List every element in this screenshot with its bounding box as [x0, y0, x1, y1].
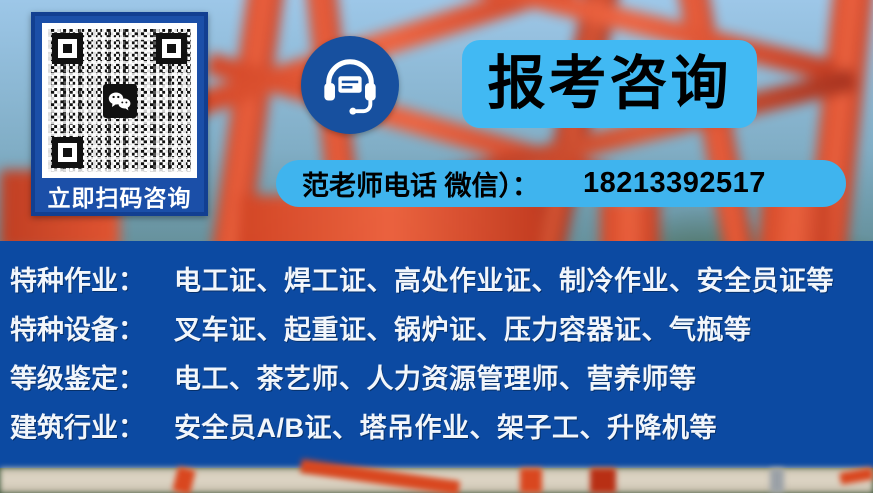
contact-pill[interactable]: 范老师电话 微信）： 18213392517 — [276, 160, 846, 207]
ground-decoration — [520, 468, 542, 493]
ground-decoration — [770, 468, 784, 493]
headset-support-icon — [301, 36, 399, 134]
qr-finder-top-left — [52, 33, 83, 64]
contact-phone-number[interactable]: 18213392517 — [583, 167, 766, 200]
headline-pill: 报考咨询 — [462, 40, 757, 128]
headline-text: 报考咨询 — [487, 55, 731, 113]
qr-code-image[interactable] — [42, 23, 197, 178]
info-label: 特种作业： — [10, 259, 174, 298]
qr-finder-bottom-left — [52, 137, 83, 168]
certificate-list-panel: 特种作业： 电工证、焊工证、高处作业证、制冷作业、安全员证等 特种设备： 叉车证… — [0, 241, 873, 468]
qr-card-caption: 立即扫码咨询 — [42, 178, 197, 219]
info-row-grade-assessment: 等级鉴定： 电工、茶艺师、人力资源管理师、营养师等 — [0, 357, 873, 406]
info-label: 建筑行业： — [10, 406, 174, 445]
info-value: 电工、茶艺师、人力资源管理师、营养师等 — [174, 357, 697, 396]
info-label: 特种设备： — [10, 308, 174, 347]
info-value: 叉车证、起重证、锅炉证、压力容器证、气瓶等 — [174, 308, 752, 347]
info-value: 安全员A/B证、塔吊作业、架子工、升降机等 — [174, 406, 717, 445]
info-value: 电工证、焊工证、高处作业证、制冷作业、安全员证等 — [174, 259, 834, 298]
ground-decoration — [590, 468, 616, 493]
wechat-logo-icon — [103, 84, 137, 118]
info-row-construction-industry: 建筑行业： 安全员A/B证、塔吊作业、架子工、升降机等 — [0, 406, 873, 455]
qr-matrix — [48, 29, 191, 172]
info-label: 等级鉴定： — [10, 357, 174, 396]
info-row-special-equipment: 特种设备： 叉车证、起重证、锅炉证、压力容器证、气瓶等 — [0, 308, 873, 357]
info-row-special-operations: 特种作业： 电工证、焊工证、高处作业证、制冷作业、安全员证等 — [0, 259, 873, 308]
wechat-qr-card[interactable]: 立即扫码咨询 — [31, 12, 208, 216]
contact-label: 范老师电话 微信）： — [302, 164, 539, 203]
promo-banner: 立即扫码咨询 报考咨询 范老师电话 微信）： 18213392517 特种作业：… — [0, 0, 873, 493]
qr-finder-top-right — [156, 33, 187, 64]
